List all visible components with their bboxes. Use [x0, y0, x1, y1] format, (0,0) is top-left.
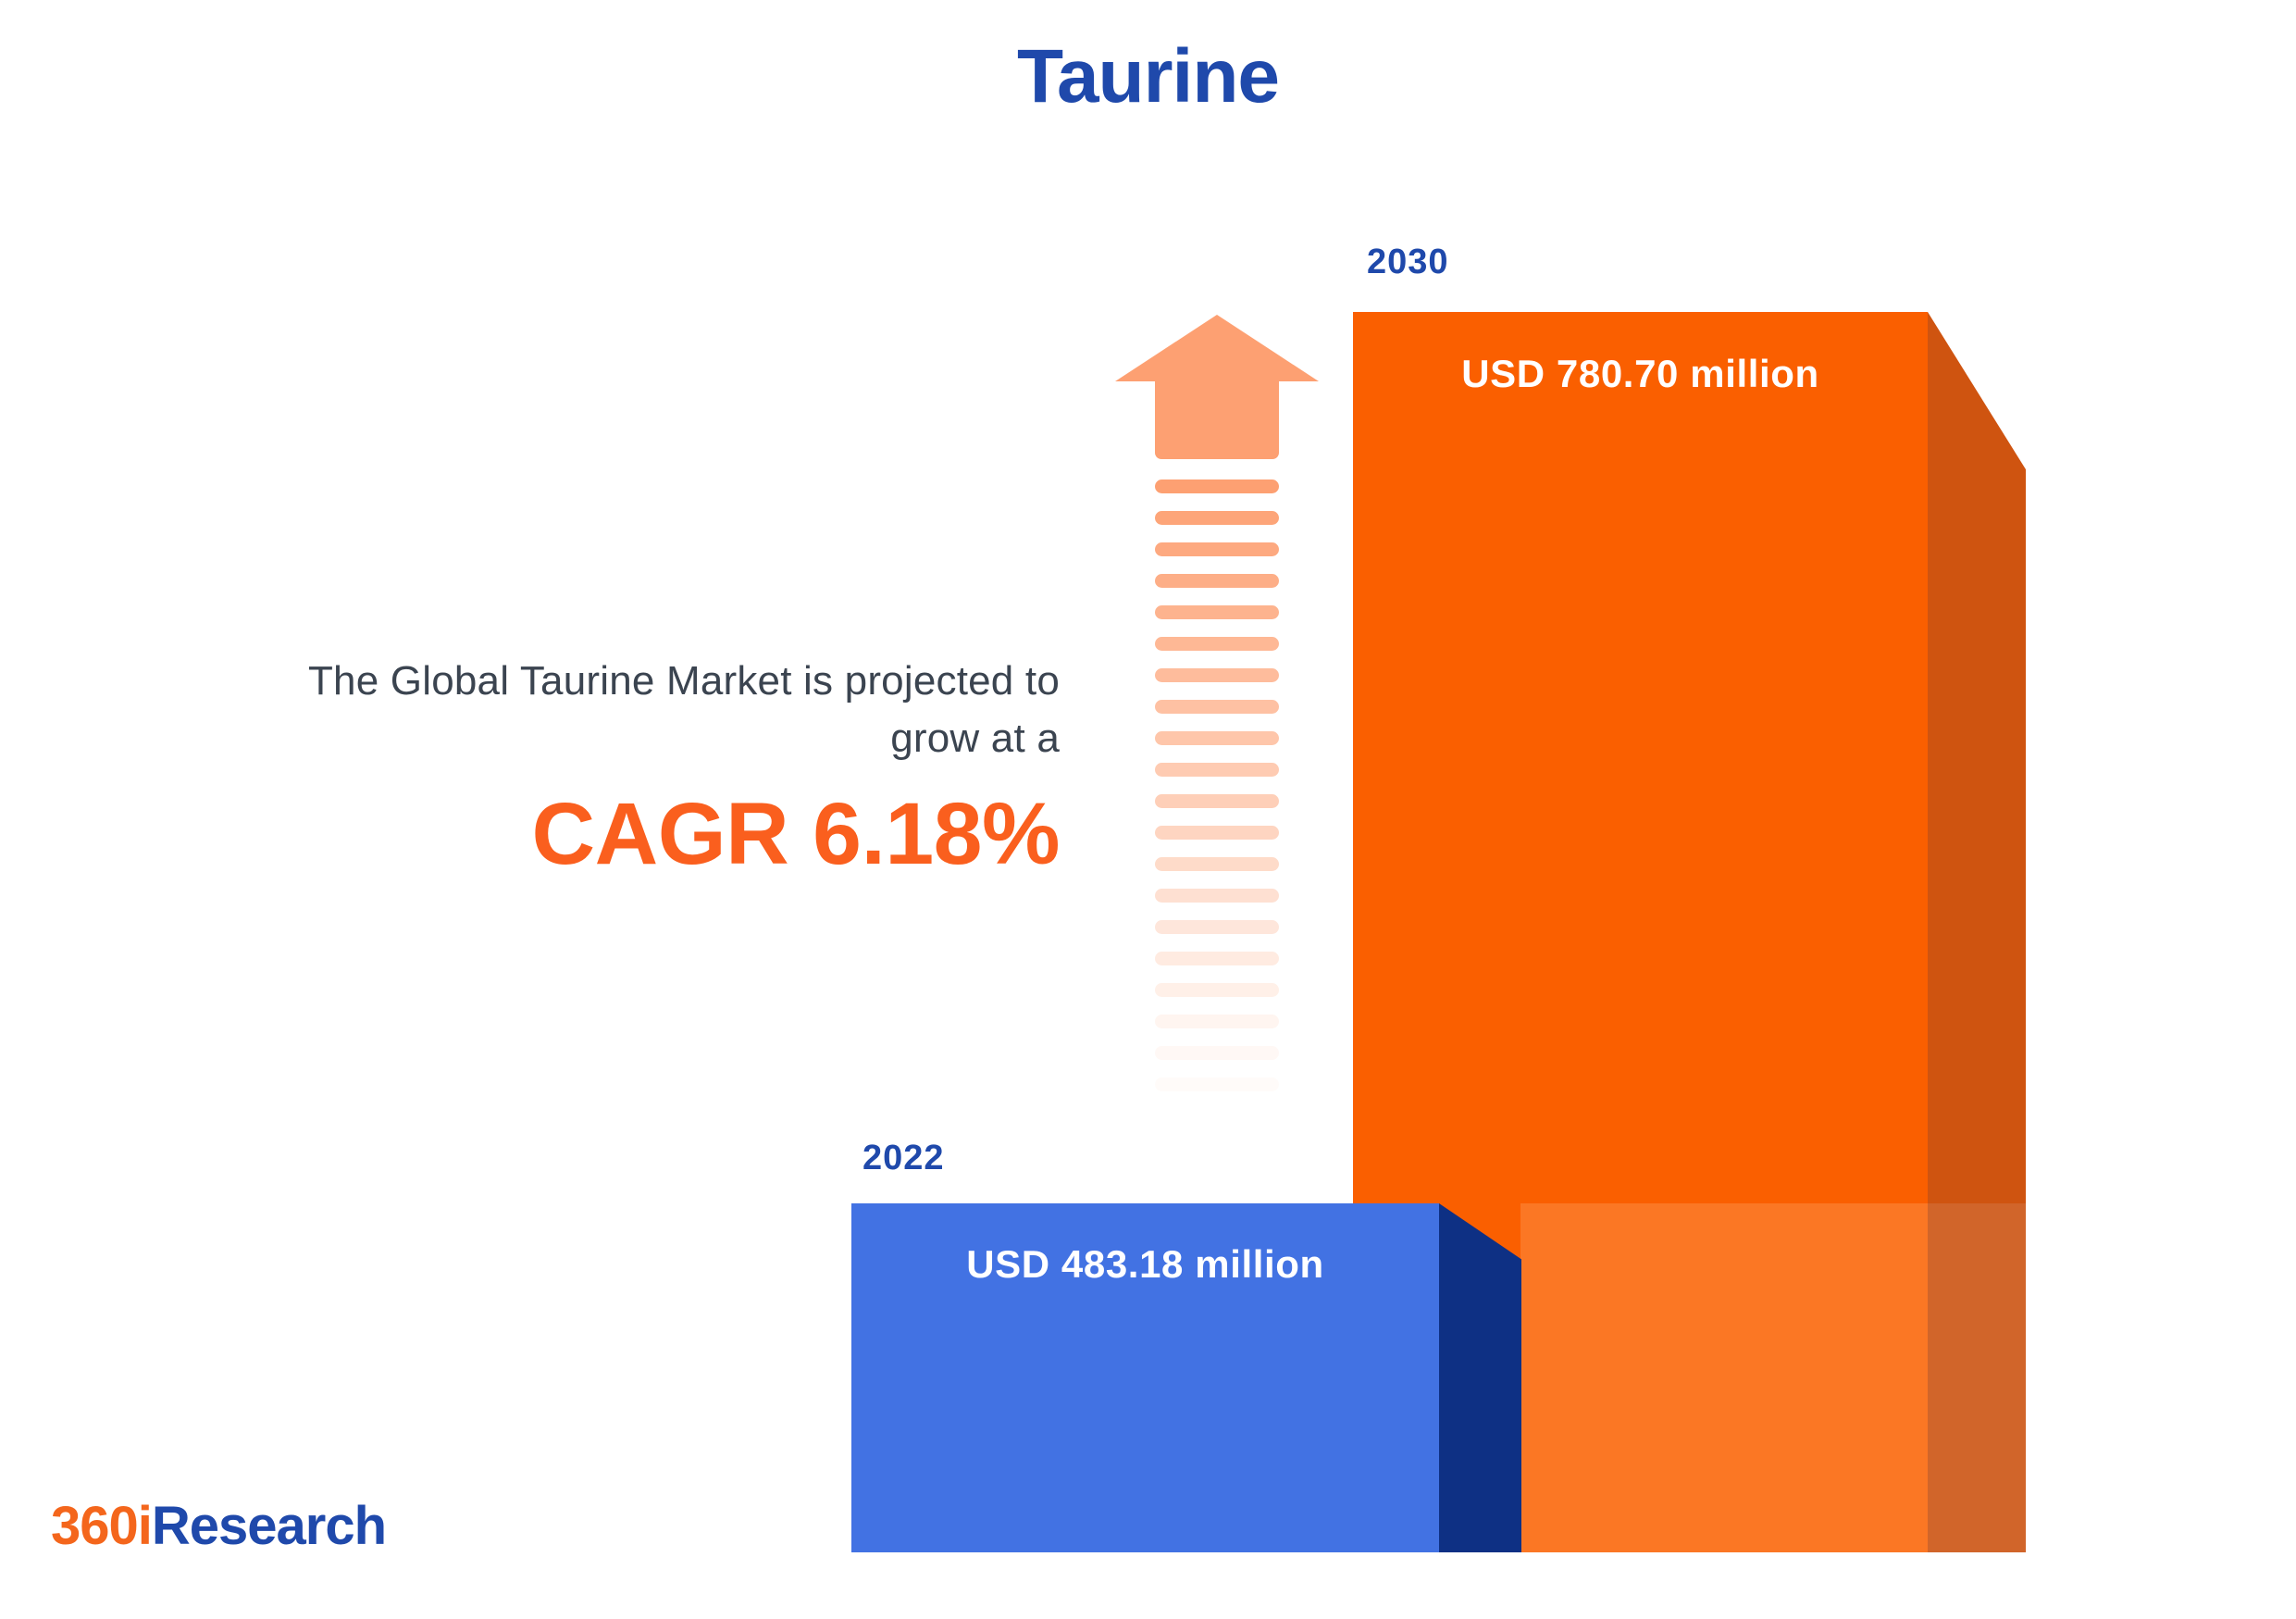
- bar-2022-side-face: [1439, 1203, 1521, 1552]
- bar-2030-value-label: USD 780.70 million: [1353, 352, 1928, 396]
- brand-logo-prefix: 360i: [51, 1496, 152, 1556]
- infographic-canvas: Taurine The Global Taurine Market is pro…: [0, 0, 2296, 1619]
- brand-logo-suffix: Research: [152, 1496, 386, 1556]
- brand-logo[interactable]: 360iResearch: [51, 1495, 386, 1557]
- bar-2030-base-side-face: [1928, 1203, 2026, 1552]
- bar-2022-value-label: USD 483.18 million: [851, 1242, 1439, 1287]
- bar-2030-year-label: 2030: [1367, 243, 1449, 282]
- bar-2030-base-front-face: [1520, 1203, 1928, 1552]
- bar-2022-year-label: 2022: [863, 1139, 945, 1178]
- bar-chart: 2030 USD 780.70 million 2022 USD 483.18 …: [0, 0, 2296, 1619]
